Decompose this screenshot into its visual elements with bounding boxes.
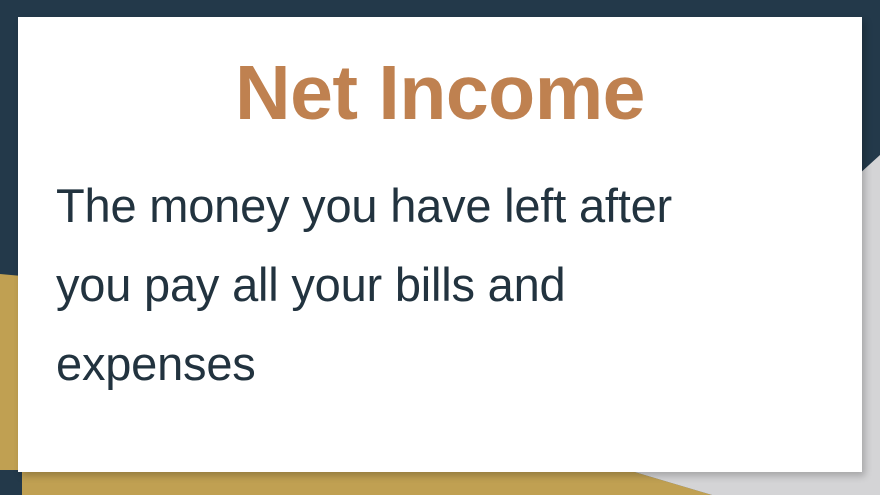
slide-body-text: The money you have left after you pay al…	[56, 167, 802, 404]
slide-content-card: Net Income The money you have left after…	[18, 17, 862, 472]
slide-title: Net Income	[18, 55, 862, 132]
body-line: you pay all your bills and	[56, 246, 802, 325]
slide-canvas: Net Income The money you have left after…	[0, 0, 880, 495]
body-line: expenses	[56, 325, 802, 404]
slide-content: Net Income The money you have left after…	[18, 17, 862, 472]
body-line: The money you have left after	[56, 167, 802, 246]
